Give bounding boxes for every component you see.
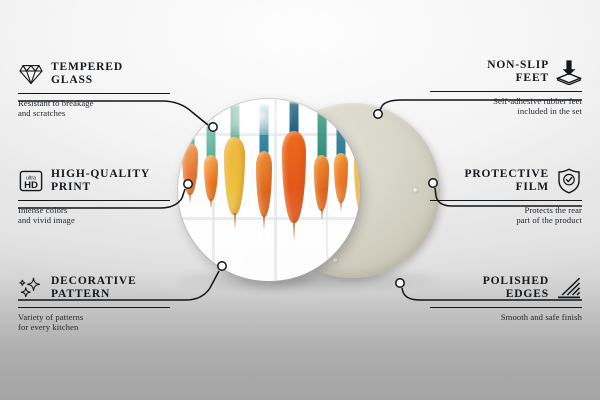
callout-title: TEMPEREDGLASS: [51, 61, 123, 88]
callout-subtitle: Variety of patternsfor every kitchen: [18, 312, 170, 333]
callout-header: POLISHEDEDGES: [430, 272, 582, 304]
callout-title: PROTECTIVEFILM: [464, 168, 549, 195]
callout-header: TEMPEREDGLASS: [18, 58, 170, 90]
callout-subtitle: Protects the rearpart of the product: [430, 205, 582, 226]
callout-title: DECORATIVEPATTERN: [51, 275, 137, 302]
carrot-illustration: [204, 99, 218, 281]
callout-divider: [430, 307, 582, 308]
carrot-body: [314, 155, 329, 211]
infographic-canvas: TEMPEREDGLASS Resistant to breakageand s…: [0, 0, 600, 400]
carrot-illustration: [314, 99, 329, 281]
callout-subtitle: Intense colorsand vivid image: [18, 205, 170, 226]
callout-divider: [18, 93, 170, 94]
carrot-body: [256, 151, 272, 217]
carrot-tip: [210, 199, 212, 209]
carrot-tip: [189, 193, 191, 204]
callout-subtitle: Resistant to breakageand scratches: [18, 98, 170, 119]
diamond-icon: [18, 61, 44, 87]
callout-divider: [430, 91, 582, 92]
carrot-stem: [186, 113, 195, 145]
product-front-board: [178, 99, 360, 281]
ultra-hd-large-text: HD: [24, 180, 38, 191]
carrot-stem: [317, 107, 326, 157]
callout-divider: [430, 200, 582, 201]
callout-polished-edges: POLISHEDEDGES Smooth and safe finish: [430, 272, 582, 322]
callout-high-quality-print: ultra HD HIGH-QUALITYPRINT Intense color…: [18, 165, 170, 226]
callout-title: HIGH-QUALITYPRINT: [51, 168, 150, 195]
carrot-illustration: [334, 99, 348, 281]
callout-divider: [18, 200, 170, 201]
carrot-stem: [230, 101, 239, 139]
arrow-down-onto-pad-icon: [556, 59, 582, 85]
carrot-stem: [290, 99, 299, 133]
callout-subtitle: Smooth and safe finish: [430, 312, 582, 323]
carrot-stem: [360, 105, 361, 149]
callout-divider: [18, 307, 170, 308]
carrot-tip: [263, 215, 265, 230]
carrot-stem: [337, 105, 346, 155]
carrot-illustration: [256, 99, 272, 281]
callout-non-slip-feet: NON-SLIPFEET Self-adhesive rubber feetin…: [430, 56, 582, 117]
carrot-tip: [234, 213, 236, 230]
glass-reflection-bar: [274, 99, 277, 281]
product-image-group: [170, 95, 440, 300]
shield-check-icon: [556, 168, 582, 194]
carrot-print-artwork: [178, 99, 360, 281]
callout-header: PROTECTIVEFILM: [430, 165, 582, 197]
carrot-body: [224, 137, 245, 215]
carrot-tip: [293, 221, 295, 241]
carrot-tip: [340, 201, 342, 212]
callout-header: NON-SLIPFEET: [430, 56, 582, 88]
rubber-foot: [413, 188, 418, 193]
carrot-body: [182, 143, 198, 195]
carrot-illustration: [354, 99, 360, 281]
callout-protective-film: PROTECTIVEFILM Protects the rearpart of …: [430, 165, 582, 226]
callout-header: DECORATIVEPATTERN: [18, 272, 170, 304]
callout-tempered-glass: TEMPEREDGLASS Resistant to breakageand s…: [18, 58, 170, 119]
carrot-illustration: [224, 99, 245, 281]
carrot-tip: [321, 209, 323, 221]
carrot-body: [354, 147, 360, 217]
callout-title: NON-SLIPFEET: [487, 59, 549, 86]
ultra-hd-badge-icon: ultra HD: [18, 168, 44, 194]
carrot-body: [204, 155, 218, 201]
callout-header: ultra HD HIGH-QUALITYPRINT: [18, 165, 170, 197]
carrot-body: [282, 131, 306, 223]
callout-title: POLISHEDEDGES: [483, 275, 549, 302]
carrot-body: [334, 153, 348, 203]
diagonal-lines-icon: [556, 275, 582, 301]
callout-decorative-pattern: DECORATIVEPATTERN Variety of patternsfor…: [18, 272, 170, 333]
carrot-illustration: [182, 99, 198, 281]
sparkles-icon: [18, 275, 44, 301]
callout-subtitle: Self-adhesive rubber feetincluded in the…: [430, 96, 582, 117]
carrot-illustration: [282, 99, 306, 281]
carrot-stem: [260, 103, 269, 153]
carrot-stem: [207, 121, 216, 157]
